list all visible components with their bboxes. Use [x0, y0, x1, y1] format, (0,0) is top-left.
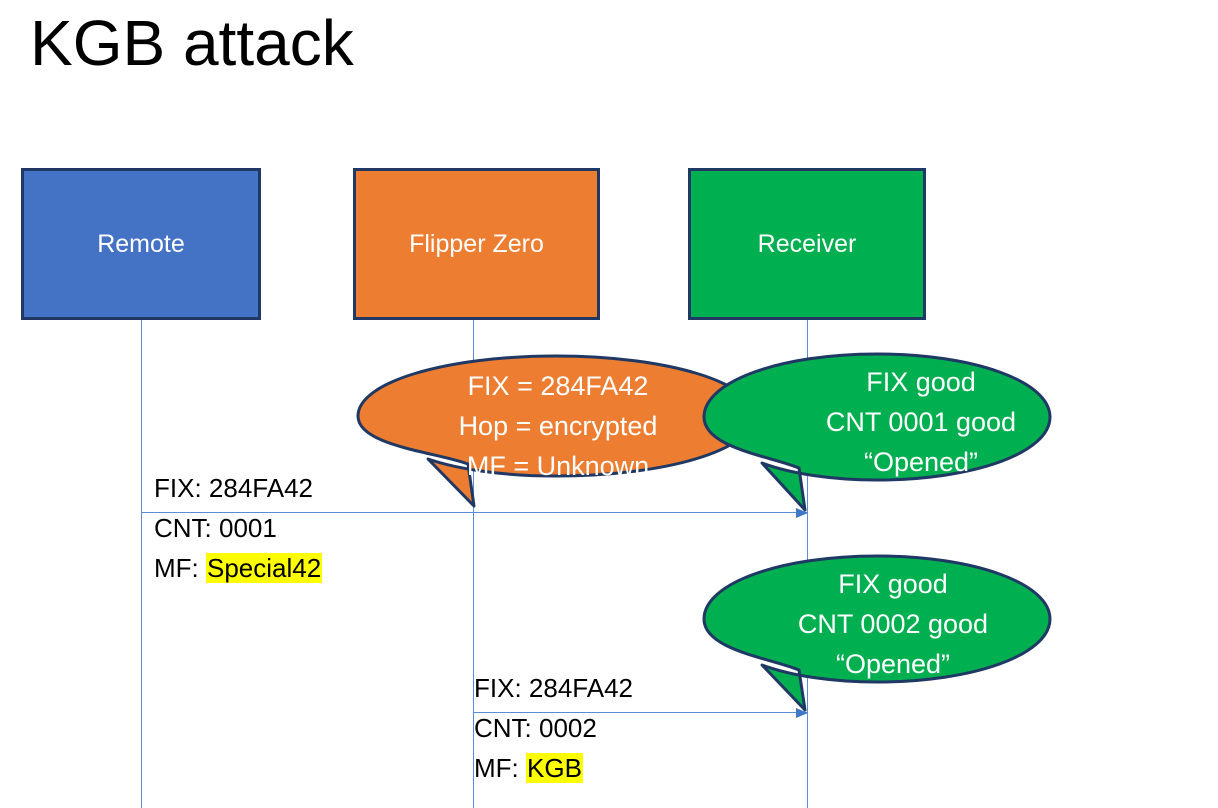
callout-line-2: CNT 0001 good	[744, 402, 1098, 442]
message-label-2: FIX: 284FA42 CNT: 0002 MF: KGB	[474, 668, 633, 788]
actor-box-receiver[interactable]: Receiver	[688, 168, 926, 320]
callout-receiver-cnt-0002[interactable]: FIX good CNT 0002 good “Opened”	[700, 554, 1054, 714]
actor-box-remote[interactable]: Remote	[21, 168, 261, 320]
message-line-mf-value-highlighted: KGB	[526, 753, 583, 783]
message-line-mf: MF: KGB	[474, 748, 633, 788]
callout-line-3: “Opened”	[744, 442, 1098, 482]
message-line-cnt: CNT: 0002	[474, 708, 633, 748]
message-line-cnt-prefix: CNT:	[154, 513, 219, 543]
actor-label-flipper-zero: Flipper Zero	[409, 229, 544, 259]
message-line-fix-prefix: FIX:	[474, 673, 529, 703]
actor-label-remote: Remote	[97, 229, 185, 259]
callout-line-1: FIX good	[716, 564, 1070, 604]
actor-box-flipper-zero[interactable]: Flipper Zero	[353, 168, 600, 320]
lifeline-remote	[141, 320, 142, 808]
callout-receiver-cnt-0001[interactable]: FIX good CNT 0001 good “Opened”	[700, 352, 1054, 514]
message-line-fix-prefix: FIX:	[154, 473, 209, 503]
callout-line-1: FIX good	[744, 362, 1098, 402]
message-line-mf-prefix: MF:	[154, 553, 206, 583]
message-label-1: FIX: 284FA42 CNT: 0001 MF: Special42	[154, 468, 322, 588]
callout-line-3: “Opened”	[716, 644, 1070, 684]
actor-label-receiver: Receiver	[758, 229, 857, 259]
page-title: KGB attack	[30, 8, 354, 78]
message-line-mf-value-highlighted: Special42	[206, 553, 322, 583]
callout-receiver-2-text: FIX good CNT 0002 good “Opened”	[700, 554, 1070, 684]
message-line-fix-value: 284FA42	[209, 473, 313, 503]
message-line-cnt-value: 0001	[219, 513, 277, 543]
callout-receiver-1-text: FIX good CNT 0001 good “Opened”	[700, 352, 1098, 482]
message-line-cnt-value: 0002	[539, 713, 597, 743]
message-line-fix: FIX: 284FA42	[474, 668, 633, 708]
message-line-fix: FIX: 284FA42	[154, 468, 322, 508]
message-line-cnt-prefix: CNT:	[474, 713, 539, 743]
message-line-mf-prefix: MF:	[474, 753, 526, 783]
callout-line-2: CNT 0002 good	[716, 604, 1070, 644]
message-line-fix-value: 284FA42	[529, 673, 633, 703]
message-line-mf: MF: Special42	[154, 548, 322, 588]
slide-canvas: KGB attack Remote Flipper Zero Receiver …	[0, 0, 1218, 808]
message-line-cnt: CNT: 0001	[154, 508, 322, 548]
